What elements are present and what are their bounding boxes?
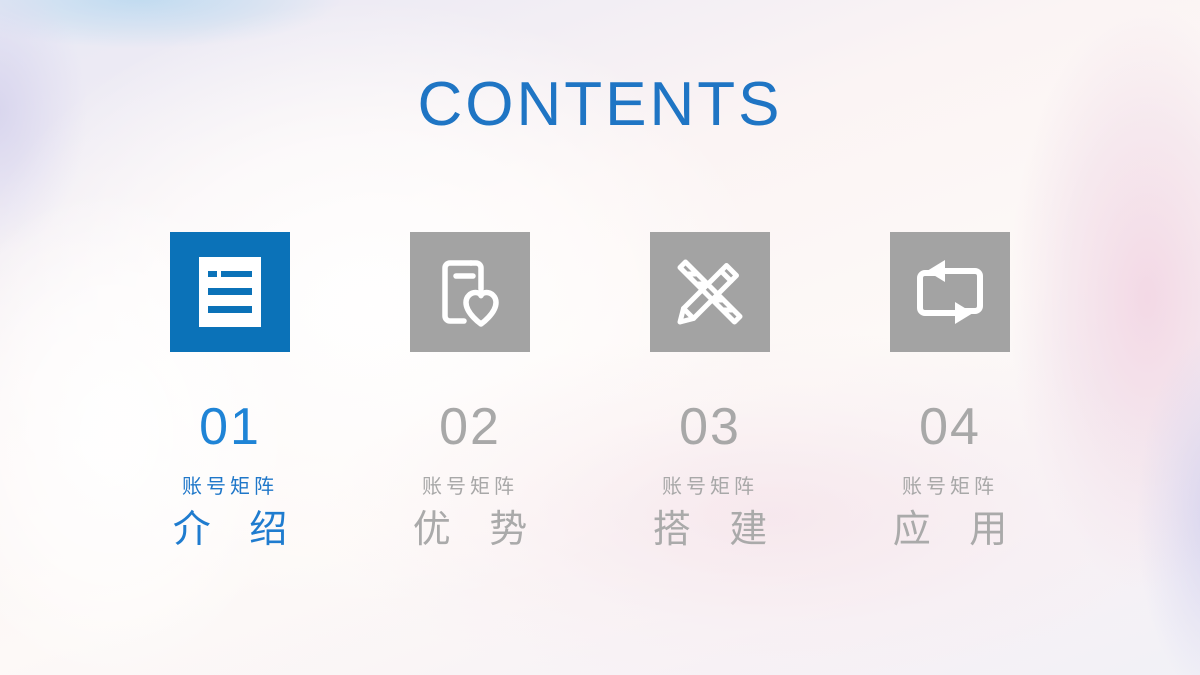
page-title: CONTENTS: [0, 74, 1200, 136]
item-label-02: 优 势: [399, 509, 542, 553]
document-lines-icon: [199, 257, 261, 327]
item-number-03: 03: [679, 401, 741, 453]
icon-tile-02[interactable]: [410, 232, 530, 352]
item-number-04: 04: [919, 401, 981, 453]
item-subtitle-04: 账号矩阵: [902, 477, 998, 497]
item-subtitle-03: 账号矩阵: [662, 477, 758, 497]
item-number-01: 01: [199, 401, 261, 453]
icon-tile-04[interactable]: [890, 232, 1010, 352]
item-subtitle-02: 账号矩阵: [422, 477, 518, 497]
contents-item-04[interactable]: 04 账号矩阵 应 用: [830, 232, 1070, 592]
item-label-01: 介 绍: [159, 509, 302, 553]
contents-item-03[interactable]: 03 账号矩阵 搭 建: [590, 232, 830, 592]
item-label-03: 搭 建: [639, 509, 782, 553]
contents-list: 01 账号矩阵 介 绍 02 账号矩阵 优 势: [110, 232, 1100, 592]
icon-tile-01[interactable]: [170, 232, 290, 352]
slide-canvas: CONTENTS 01 账号矩阵 介 绍: [0, 0, 1200, 675]
item-label-04: 应 用: [879, 509, 1022, 553]
document-heart-icon: [437, 256, 503, 328]
contents-item-02[interactable]: 02 账号矩阵 优 势: [350, 232, 590, 592]
repeat-loop-icon: [914, 260, 986, 324]
icon-tile-03[interactable]: [650, 232, 770, 352]
pencil-ruler-icon: [673, 255, 747, 329]
item-number-02: 02: [439, 401, 501, 453]
item-subtitle-01: 账号矩阵: [182, 477, 278, 497]
contents-item-01[interactable]: 01 账号矩阵 介 绍: [110, 232, 350, 592]
